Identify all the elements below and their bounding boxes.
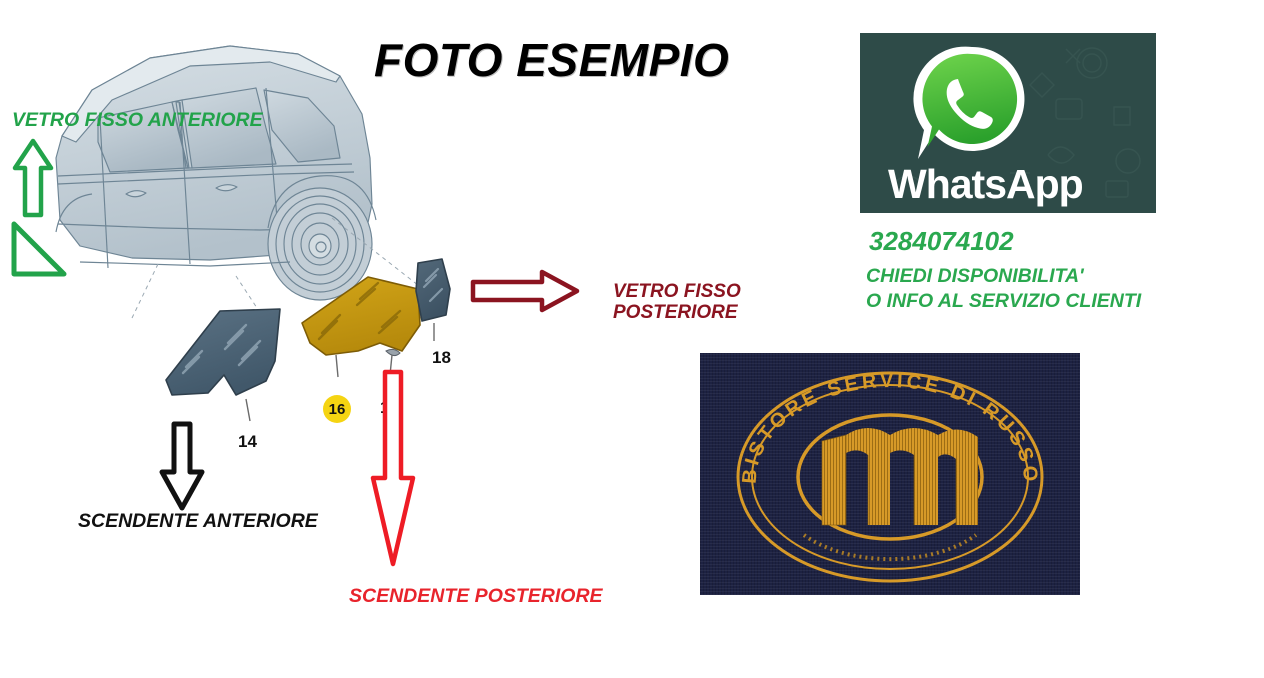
label-scendente-posteriore: SCENDENTE POSTERIORE — [349, 586, 603, 608]
whatsapp-wordmark: WhatsApp — [888, 161, 1083, 208]
page-title: FOTO ESEMPIO — [374, 33, 729, 87]
glass-part-18 — [416, 259, 450, 341]
label-scendente-anteriore: SCENDENTE ANTERIORE — [78, 511, 318, 533]
label-vetro-fisso-posteriore: VETRO FISSO POSTERIORE — [613, 281, 741, 324]
contact-instructions: CHIEDI DISPONIBILITA' O INFO AL SERVIZIO… — [866, 264, 1141, 314]
part-number-18: 18 — [432, 348, 451, 368]
phone-number[interactable]: 3284074102 — [869, 226, 1014, 257]
poster-canvas: 14 16 17 18 FOTO ESEMPIO VETRO FISSO ANT… — [0, 0, 1264, 678]
whatsapp-banner[interactable]: WhatsApp — [860, 33, 1156, 213]
right-arrow-darkred-icon — [470, 268, 580, 314]
triangle-green-icon — [8, 218, 68, 280]
whatsapp-phone-bubble-icon — [912, 43, 1032, 163]
down-arrow-black-icon — [158, 420, 206, 512]
part-number-14: 14 — [238, 432, 257, 452]
glass-part-14 — [166, 309, 280, 421]
glass-part-16 — [302, 277, 420, 377]
up-arrow-green-icon — [12, 138, 54, 218]
company-logo: MRICAMBISTORE SERVICE DI RUSSO MARCO — [700, 353, 1080, 595]
part-number-16-badge: 16 — [323, 395, 351, 423]
company-logo-artwork: MRICAMBISTORE SERVICE DI RUSSO MARCO — [700, 353, 1080, 595]
label-vetro-fisso-anteriore: VETRO FISSO ANTERIORE — [12, 110, 263, 132]
part-number-16: 16 — [329, 401, 346, 418]
down-arrow-red-icon — [370, 368, 416, 568]
